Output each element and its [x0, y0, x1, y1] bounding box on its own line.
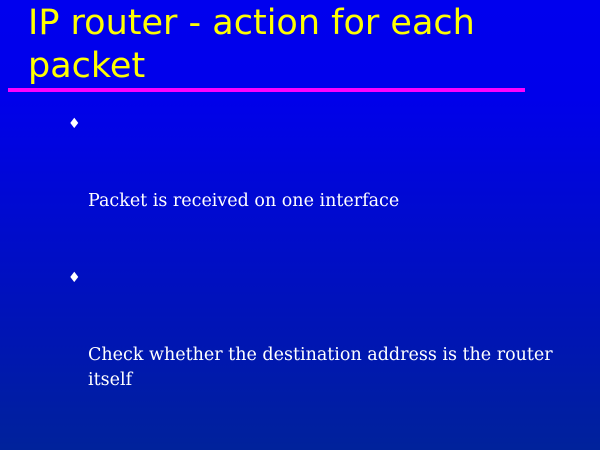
slide-body-bullet-list: ♦ Packet is received on one interface ♦ … [68, 112, 584, 450]
title-underline-rule [8, 88, 525, 92]
list-item: ♦ Check whether the destination address … [68, 266, 584, 445]
presentation-slide: IP router - action for each packet ♦ Pac… [0, 0, 600, 450]
diamond-bullet-icon: ♦ [68, 112, 81, 138]
slide-title-block: IP router - action for each packet [28, 2, 548, 88]
page-title: IP router - action for each packet [28, 2, 548, 88]
list-item: ♦ Decrement TTL (time to live), and disc… [68, 446, 584, 450]
list-item-text: Check whether the destination address is… [88, 343, 584, 394]
list-item-text: Packet is received on one interface [88, 189, 584, 215]
list-item: ♦ Packet is received on one interface [68, 112, 584, 265]
diamond-bullet-icon: ♦ [68, 446, 81, 450]
diamond-bullet-icon: ♦ [68, 266, 81, 292]
